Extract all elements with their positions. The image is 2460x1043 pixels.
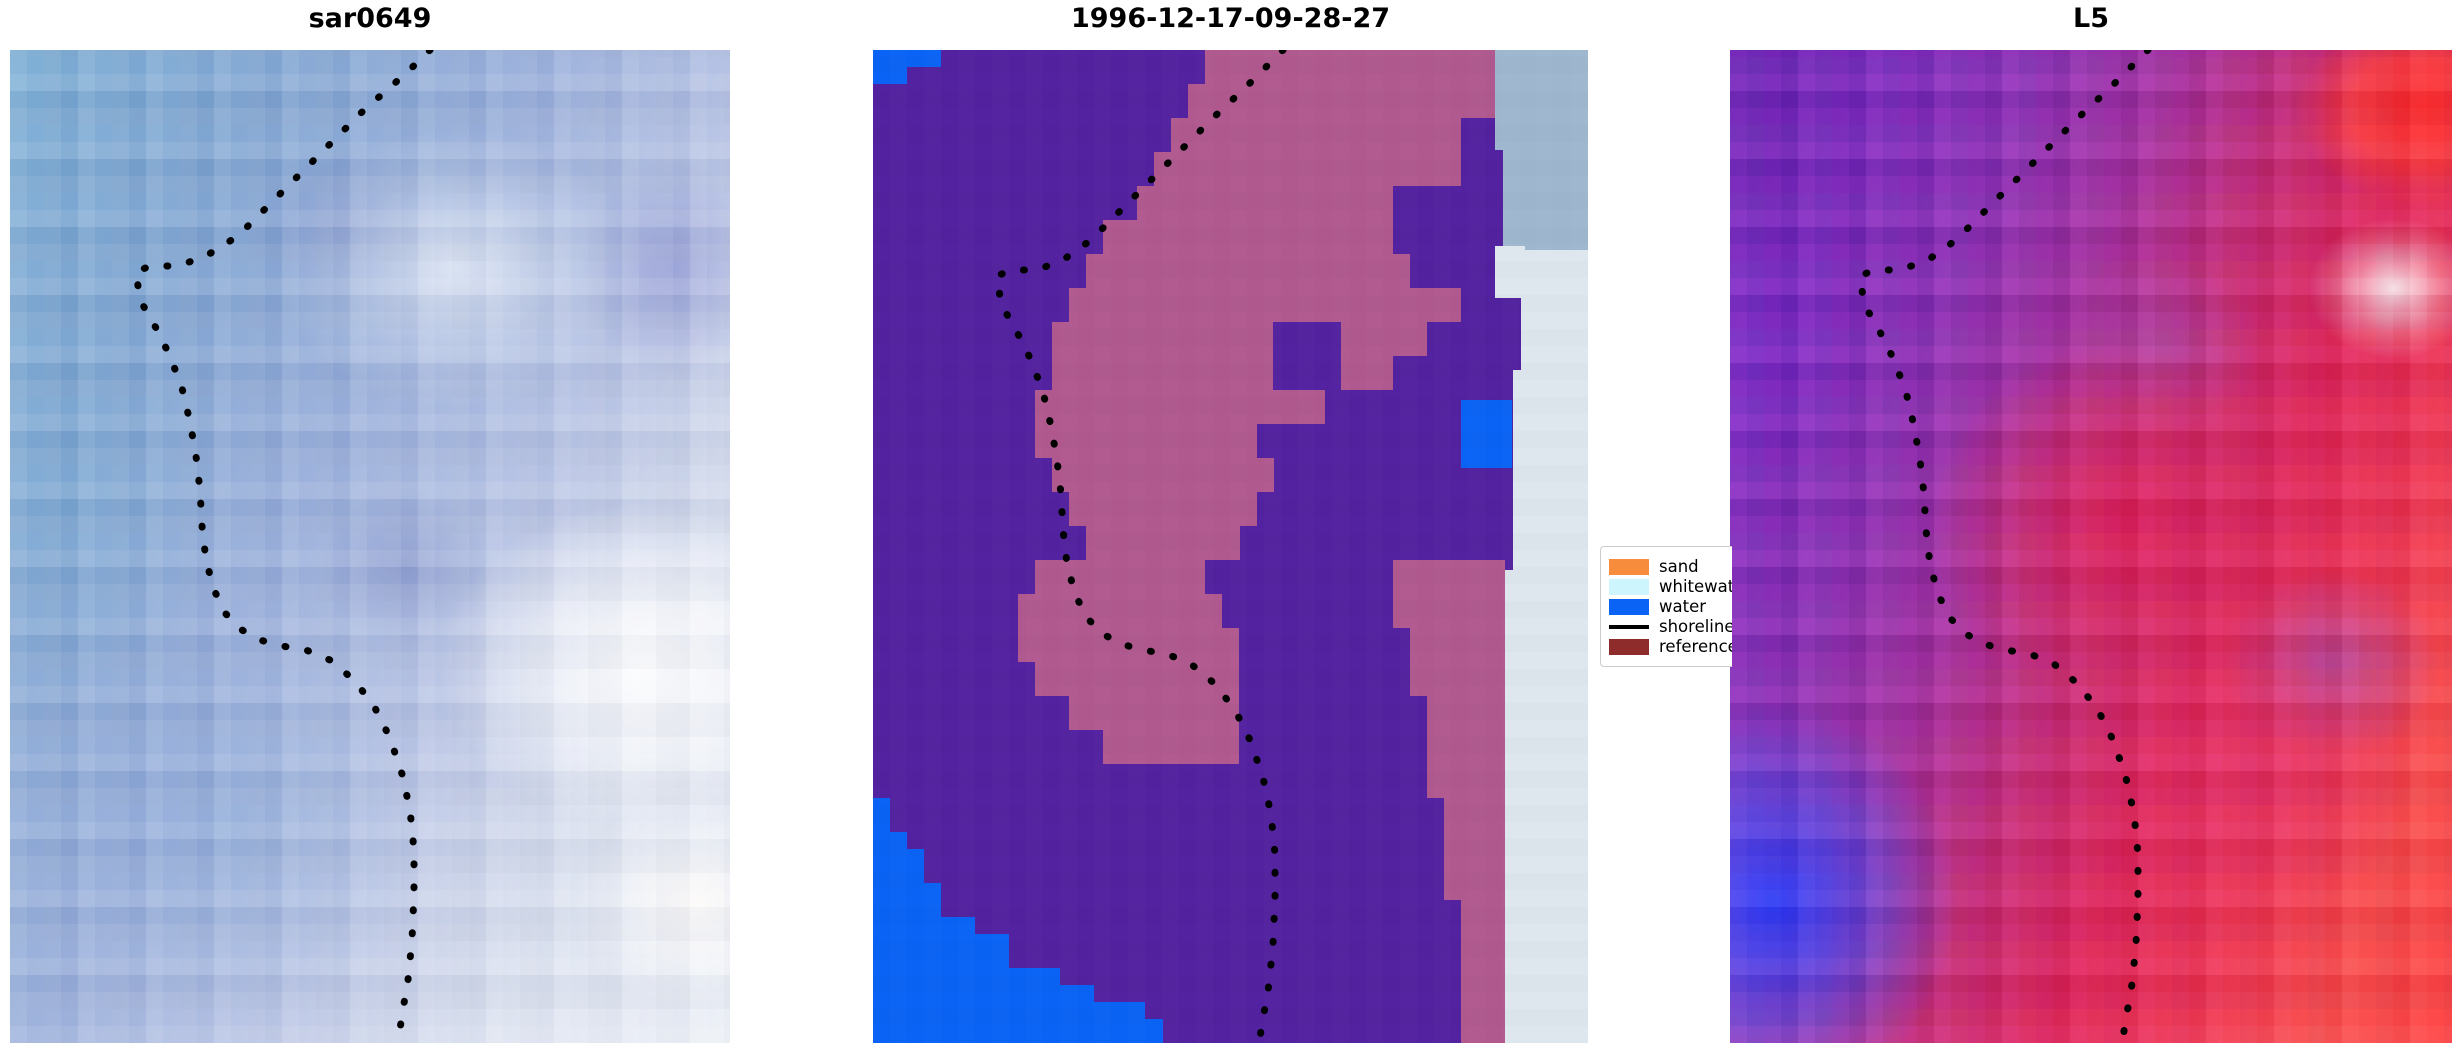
- panel-title-sar: sar0649: [10, 2, 730, 42]
- legend-clip-region: sand whitewater water shoreline referenc…: [1600, 540, 1732, 704]
- legend-label-shoreline: shoreline: [1659, 617, 1732, 636]
- figure-canvas: sar0649 1996-12-17-09-28-27 L5: [0, 0, 2460, 1043]
- panel-title-classification: 1996-12-17-09-28-27: [873, 2, 1588, 42]
- sand-swatch-icon: [1609, 559, 1649, 575]
- panel-l5-composite[interactable]: [1730, 50, 2452, 1043]
- legend-item-whitewater[interactable]: whitewater: [1609, 577, 1732, 596]
- legend-item-water[interactable]: water: [1609, 597, 1732, 616]
- panel-classification-map[interactable]: [873, 50, 1588, 1043]
- water-swatch-icon: [1609, 599, 1649, 615]
- classification-raster: [873, 50, 1588, 1043]
- legend-box[interactable]: sand whitewater water shoreline referenc…: [1600, 546, 1732, 667]
- panel-sar-image[interactable]: [10, 50, 730, 1043]
- whitewater-swatch-icon: [1609, 579, 1649, 595]
- legend-label-sand: sand: [1659, 557, 1699, 576]
- legend-item-sand[interactable]: sand: [1609, 557, 1732, 576]
- shoreline-line-icon: [1609, 625, 1649, 629]
- classification-grid-layer: [873, 50, 1588, 1043]
- panel-title-l5: L5: [1730, 2, 2452, 42]
- legend-label-reference-shoreline: reference shoreline: [1659, 637, 1732, 656]
- legend-item-reference-shoreline[interactable]: reference shoreline: [1609, 637, 1732, 656]
- legend-label-whitewater: whitewater: [1659, 577, 1732, 596]
- legend-label-water: water: [1659, 597, 1706, 616]
- sar-mosaic-layer: [10, 50, 730, 1043]
- l5-mosaic-layer: [1730, 50, 2452, 1043]
- legend-item-shoreline[interactable]: shoreline: [1609, 617, 1732, 636]
- reference-shoreline-swatch-icon: [1609, 639, 1649, 655]
